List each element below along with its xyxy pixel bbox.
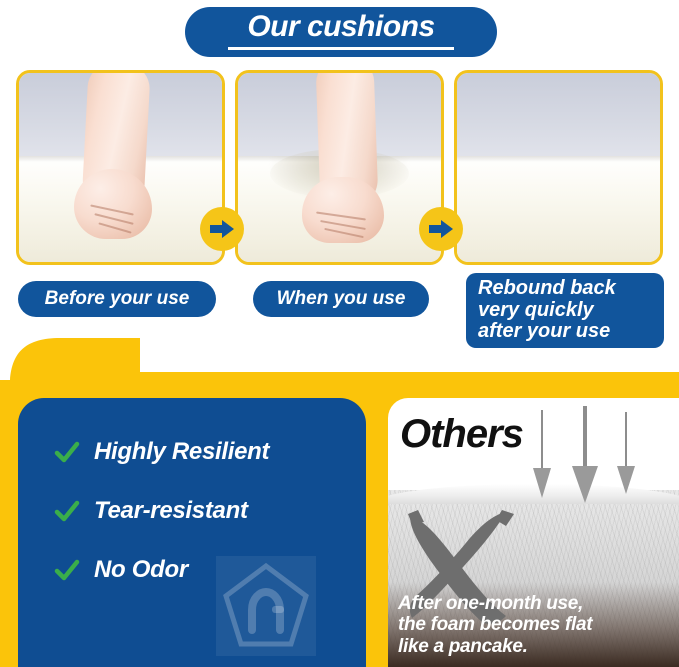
others-caption-line-2: the foam becomes flat [398, 614, 673, 635]
foam-scene-before [19, 73, 222, 262]
feature-item-highly-resilient: Highly Resilient [54, 438, 356, 466]
caption-rebound-line-1: Rebound back [478, 278, 616, 300]
knuckle-line [98, 222, 131, 233]
foam-slab [454, 156, 663, 265]
foam-edge-shadow [457, 156, 660, 162]
caption-rebound-line-3: after your use [478, 321, 610, 343]
feature-label: No Odor [94, 556, 188, 584]
feature-label: Highly Resilient [94, 438, 269, 466]
step-photo-when [235, 70, 444, 265]
caption-rebound-line-2: very quickly [478, 300, 594, 322]
step-photo-row [0, 70, 679, 270]
page-title-banner: Our cushions [185, 7, 497, 57]
title-underline [228, 47, 454, 50]
pressure-arrows-group [528, 406, 648, 511]
check-icon [54, 498, 80, 524]
arrow-right-icon [428, 219, 454, 239]
foam-scene-when [238, 73, 441, 262]
foam-scene-rebound [457, 73, 660, 262]
photo-backdrop [457, 73, 660, 162]
feature-label: Tear-resistant [94, 497, 248, 525]
feature-item-no-odor: No Odor [54, 556, 356, 584]
step-photo-before [16, 70, 225, 265]
arrow-down-icon [572, 406, 598, 503]
caption-before: Before your use [18, 281, 216, 317]
infographic-page: Our cushions [0, 0, 679, 667]
others-caption-line-1: After one-month use, [398, 593, 673, 614]
page-title: Our cushions [247, 12, 434, 42]
knuckle-line [316, 212, 366, 221]
caption-when: When you use [253, 281, 429, 317]
arrow-down-icon [617, 412, 635, 494]
step-photo-rebound [454, 70, 663, 265]
yellow-concave-corner [0, 328, 150, 380]
others-title: Others [400, 412, 523, 457]
fist-shape [302, 177, 384, 243]
step-arrow-1 [200, 207, 244, 251]
arrow-right-icon [209, 219, 235, 239]
others-caption: After one-month use, the foam becomes fl… [398, 593, 673, 657]
arrow-down-icon [533, 410, 551, 498]
check-icon [54, 439, 80, 465]
others-caption-line-3: like a pancake. [398, 636, 673, 657]
caption-rebound: Rebound back very quickly after your use [466, 273, 664, 348]
feature-item-tear-resistant: Tear-resistant [54, 497, 356, 525]
features-panel: Highly Resilient Tear-resistant No Odor [18, 398, 366, 667]
step-arrow-2 [419, 207, 463, 251]
check-icon [54, 557, 80, 583]
others-panel: Others After one-month use, [388, 398, 679, 667]
knuckle-line [324, 228, 364, 238]
